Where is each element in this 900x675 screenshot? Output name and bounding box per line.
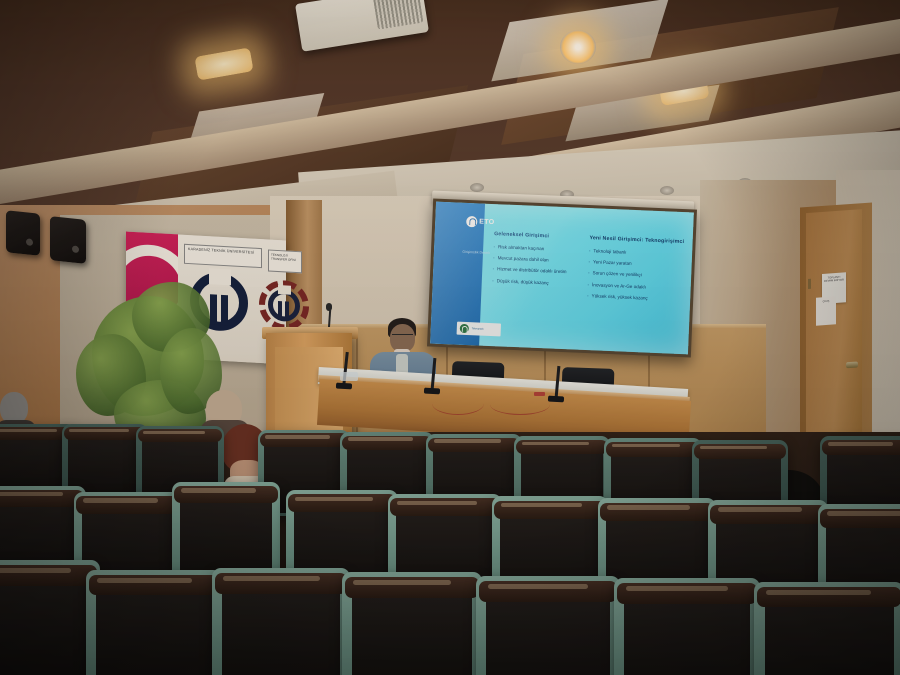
auditorium-seat[interactable]: [86, 570, 222, 675]
bullet-dash-icon: -: [493, 255, 495, 261]
eto-brand-text: ETO: [479, 218, 494, 226]
eto-mark-icon: [466, 216, 477, 227]
wall-sign: ÇIKIŞ: [816, 296, 836, 325]
bullet-text: Sorun çözen ve yenilikçi: [592, 271, 641, 279]
bullet-dash-icon: -: [588, 259, 590, 265]
water-glass: [340, 372, 358, 381]
bullet-dash-icon: -: [589, 248, 591, 254]
slide-bullet: - Teknoloji tabanlı: [589, 248, 690, 258]
table-microphone-base: [336, 383, 352, 390]
slide-bullet: - Sorun çözen ve yenilikçi: [588, 270, 689, 280]
projection-screen[interactable]: ETO Girişimcilik Destek Geleneksel Giriş…: [427, 199, 697, 358]
soffit-downlight: [660, 186, 674, 195]
bullet-dash-icon: -: [588, 270, 590, 276]
bullet-text: Hizmet ve distribütör odaklı üretim: [497, 267, 567, 276]
table-microphone-base: [548, 396, 564, 403]
room-door[interactable]: TOPLANTI DEVAM EDİYOR: [806, 209, 862, 455]
slide-footer-logos: Teknopark: [456, 322, 501, 337]
slide-bullet: - Mevcut pazara dahil olan: [493, 255, 583, 265]
bullet-text: İnovasyon ve Ar-Ge odaklı: [592, 282, 646, 290]
slide-left-heading: Geleneksel Girişimci: [494, 231, 584, 241]
auditorium-seat[interactable]: [342, 572, 482, 675]
auditorium-seat[interactable]: [614, 578, 760, 675]
speaker-driver-icon: [26, 238, 33, 246]
bullet-dash-icon: -: [492, 278, 494, 284]
microphone-cable: [432, 392, 484, 415]
ceiling-downlight: [560, 30, 596, 64]
ceiling-downlight: [194, 47, 253, 80]
soffit-downlight: [470, 183, 484, 192]
eto-logo: ETO: [466, 216, 495, 228]
bullet-dash-icon: -: [493, 244, 495, 250]
auditorium-seat[interactable]: [0, 560, 100, 675]
slide-bullet: - Hizmet ve distribütör odaklı üretim: [492, 266, 582, 276]
auditorium-seat[interactable]: [754, 582, 900, 675]
presenter-glasses-icon: [392, 334, 413, 339]
projector-vent: [373, 0, 424, 30]
wall-speaker: [6, 210, 40, 256]
slide-bullet: - Düşük risk, düşük kazanç: [492, 278, 582, 288]
bullet-text: Yüksek risk, yüksek kazanç: [591, 293, 647, 302]
microphone-cable: [490, 394, 550, 415]
slide-bullet: - İnovasyon ve Ar-Ge odaklı: [587, 282, 688, 292]
conference-hall-photo: KARADENİZ TEKNİK ÜNİVERSİTESİ TEKNOLOJİ …: [0, 0, 900, 675]
auditorium-seat[interactable]: [212, 568, 350, 675]
bullet-dash-icon: -: [492, 266, 494, 272]
door-frame: TOPLANTI DEVAM EDİYOR: [800, 202, 872, 459]
banner-university-title: KARADENİZ TEKNİK ÜNİVERSİTESİ: [184, 244, 262, 268]
speaker-driver-icon: [72, 246, 79, 254]
footer-logo-label: Teknopark: [472, 327, 498, 331]
bullet-text: Düşük risk, düşük kazanç: [497, 278, 549, 286]
kosgeb-logo-icon: [459, 324, 468, 333]
door-hinge: [808, 279, 811, 289]
ktu-gear-logo: [259, 279, 309, 332]
slide-bullet: - Risk almaktan kaçınan: [493, 244, 583, 254]
slide-right-column: Yeni Nesil Girişimci: Teknogirişimci - T…: [587, 235, 690, 308]
bullet-text: Mevcut pazara dahil olan: [497, 255, 548, 263]
bullet-text: Risk almaktan kaçınan: [498, 244, 544, 252]
ceiling-projector: [295, 0, 429, 52]
presentation-slide: ETO Girişimcilik Destek Geleneksel Giriş…: [430, 202, 694, 355]
slide-left-column: Geleneksel Girişimci - Risk almaktan kaç…: [492, 231, 585, 293]
slide-right-heading: Yeni Nesil Girişimci: Teknogirişimci: [589, 235, 690, 245]
slide-bullet: - Yüksek risk, yüksek kazanç: [587, 293, 688, 303]
auditorium-seat[interactable]: [476, 576, 620, 675]
bullet-text: Teknoloji tabanlı: [593, 248, 626, 256]
door-handle[interactable]: [846, 361, 858, 368]
slide-bullet: - Yeni Pazar yaratan: [588, 259, 689, 269]
wall-speaker: [50, 216, 86, 264]
bullet-dash-icon: -: [587, 293, 589, 299]
bullet-text: Yeni Pazar yaratan: [593, 259, 632, 267]
table-marker: [534, 392, 545, 396]
bullet-dash-icon: -: [587, 282, 589, 288]
banner-secondary-label: TEKNOLOJİ TRANSFER OFİSİ: [268, 249, 302, 273]
